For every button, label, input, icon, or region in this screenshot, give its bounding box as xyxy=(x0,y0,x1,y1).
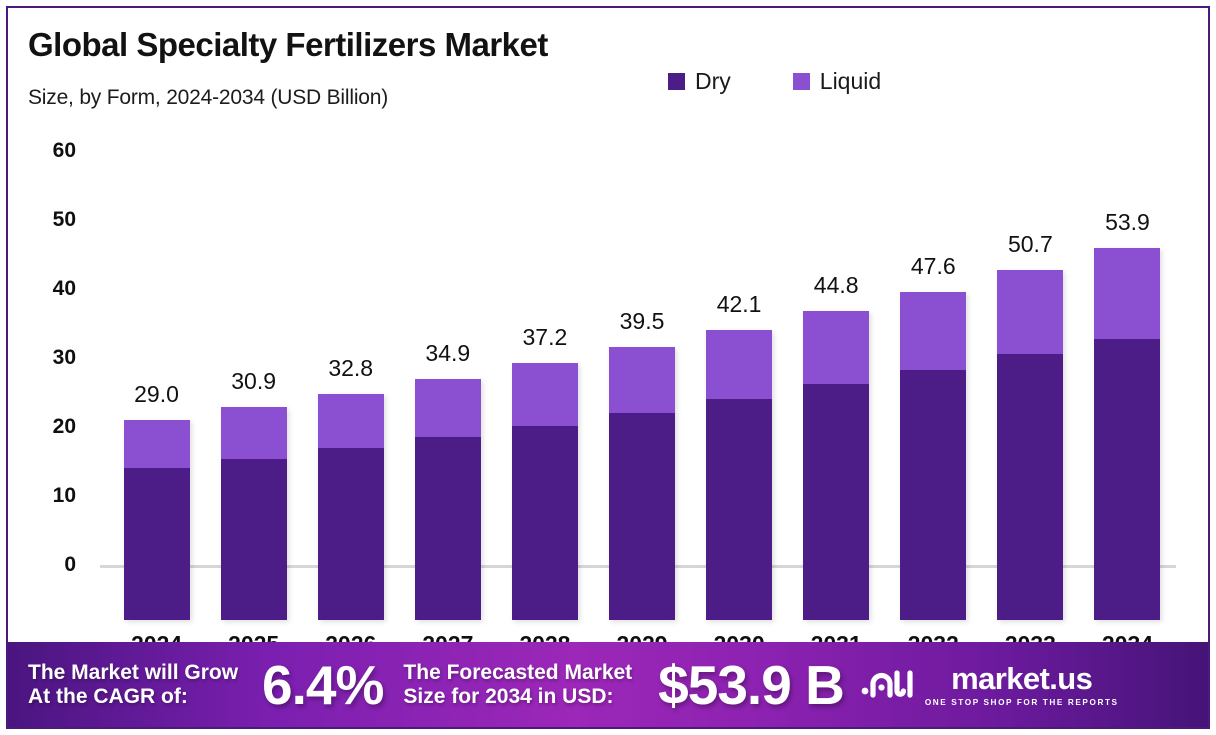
bar-segment-liquid[interactable] xyxy=(609,347,675,413)
forecast-label: The Forecasted Market Size for 2034 in U… xyxy=(403,661,632,709)
y-tick-label: 0 xyxy=(20,553,76,577)
y-tick-label: 30 xyxy=(20,346,76,370)
bar-segment-liquid[interactable] xyxy=(318,394,384,449)
bar-group[interactable]: 47.62032 xyxy=(900,63,966,620)
y-tick-label: 10 xyxy=(20,484,76,508)
bar-segment-liquid[interactable] xyxy=(803,311,869,384)
bar-segment-liquid[interactable] xyxy=(1094,248,1160,339)
bar-segment-dry[interactable] xyxy=(318,448,384,620)
y-tick-label: 40 xyxy=(20,277,76,301)
bar-segment-liquid[interactable] xyxy=(997,270,1063,354)
cagr-value: 6.4% xyxy=(262,653,383,717)
stacked-bar[interactable] xyxy=(609,347,675,620)
stacked-bar[interactable] xyxy=(900,292,966,620)
stacked-bar[interactable] xyxy=(1094,248,1160,620)
bar-segment-dry[interactable] xyxy=(706,399,772,620)
stacked-bar[interactable] xyxy=(803,311,869,620)
bar-segment-dry[interactable] xyxy=(124,468,190,620)
bar-segment-dry[interactable] xyxy=(900,370,966,620)
stacked-bar[interactable] xyxy=(706,330,772,620)
logo-text-block: market.us ONE STOP SHOP FOR THE REPORTS xyxy=(925,663,1119,707)
stacked-bar[interactable] xyxy=(415,379,481,620)
bar-group[interactable]: 37.22028 xyxy=(512,63,578,620)
logo-tagline: ONE STOP SHOP FOR THE REPORTS xyxy=(925,698,1119,707)
stacked-bar[interactable] xyxy=(512,363,578,620)
cagr-label: The Market will Grow At the CAGR of: xyxy=(28,661,238,709)
bar-value-label: 53.9 xyxy=(1067,209,1187,236)
bar-segment-dry[interactable] xyxy=(997,354,1063,620)
bar-group[interactable]: 44.82031 xyxy=(803,63,869,620)
bar-segment-liquid[interactable] xyxy=(512,363,578,426)
stacked-bar[interactable] xyxy=(318,394,384,620)
logo-wordmark: market.us xyxy=(951,663,1092,694)
bar-group[interactable]: 50.72033 xyxy=(997,63,1063,620)
stacked-bar[interactable] xyxy=(221,407,287,620)
bar-segment-dry[interactable] xyxy=(1094,339,1160,620)
chart-frame: Global Specialty Fertilizers Market Size… xyxy=(6,6,1210,729)
stacked-bar[interactable] xyxy=(124,420,190,620)
bar-group[interactable]: 42.12030 xyxy=(706,63,772,620)
y-tick-label: 60 xyxy=(20,139,76,163)
bar-segment-dry[interactable] xyxy=(803,384,869,620)
bar-segment-dry[interactable] xyxy=(609,413,675,620)
market-us-logo-icon xyxy=(860,664,916,705)
bar-group[interactable]: 34.92027 xyxy=(415,63,481,620)
bar-segment-dry[interactable] xyxy=(415,437,481,620)
cagr-label-line-1: The Market will Grow xyxy=(28,661,238,685)
y-tick-label: 50 xyxy=(20,208,76,232)
stacked-bar[interactable] xyxy=(997,270,1063,620)
market-us-logo[interactable]: market.us ONE STOP SHOP FOR THE REPORTS xyxy=(860,663,1119,707)
bar-group[interactable]: 29.02024 xyxy=(124,63,190,620)
bar-group[interactable]: 53.92034 xyxy=(1094,63,1160,620)
bar-group[interactable]: 39.52029 xyxy=(609,63,675,620)
bar-group[interactable]: 32.82026 xyxy=(318,63,384,620)
bar-segment-liquid[interactable] xyxy=(900,292,966,370)
forecast-label-line-2: Size for 2034 in USD: xyxy=(403,685,632,709)
chart-infographic-page: Global Specialty Fertilizers Market Size… xyxy=(0,0,1216,735)
bar-segment-liquid[interactable] xyxy=(415,379,481,437)
forecast-value: $53.9 B xyxy=(658,653,844,717)
bar-segment-liquid[interactable] xyxy=(221,407,287,459)
bar-segment-dry[interactable] xyxy=(221,459,287,620)
bar-group[interactable]: 30.92025 xyxy=(221,63,287,620)
bar-segment-liquid[interactable] xyxy=(124,420,190,468)
chart-plot-area: 0102030405060 29.0202430.9202532.8202634… xyxy=(8,8,1208,620)
bar-segment-dry[interactable] xyxy=(512,426,578,620)
summary-banner: The Market will Grow At the CAGR of: 6.4… xyxy=(8,642,1208,727)
forecast-label-line-1: The Forecasted Market xyxy=(403,661,632,685)
y-tick-label: 20 xyxy=(20,415,76,439)
cagr-label-line-2: At the CAGR of: xyxy=(28,685,238,709)
bar-segment-liquid[interactable] xyxy=(706,330,772,399)
